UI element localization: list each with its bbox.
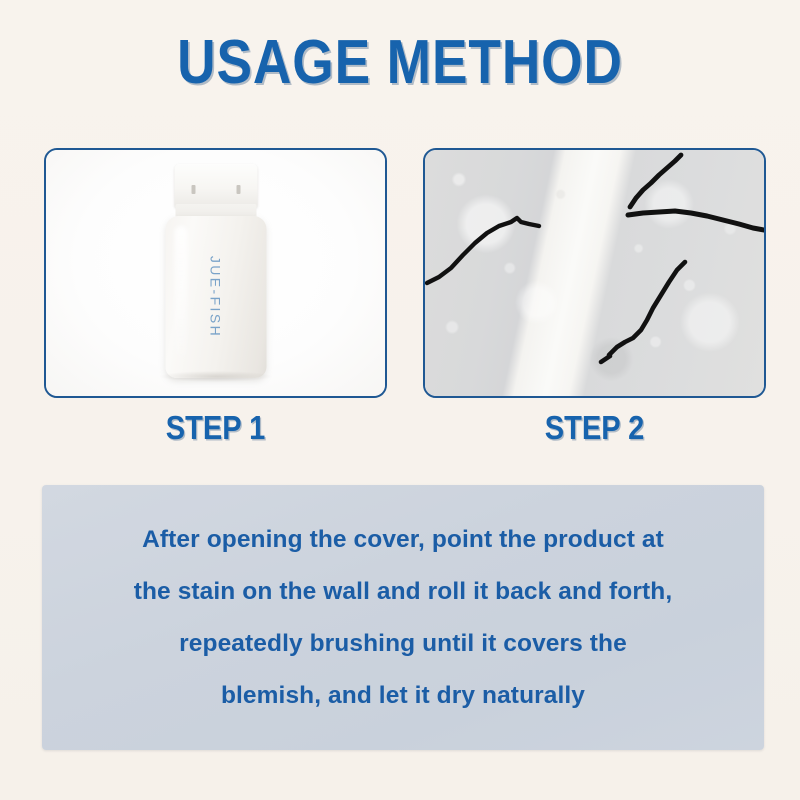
description-line-2: the stain on the wall and roll it back a… [134, 566, 673, 618]
step-labels: STEP 1 STEP 2 [44, 408, 766, 452]
description-line-1: After opening the cover, point the produ… [142, 514, 664, 566]
lid-hinge-left-icon [191, 185, 195, 194]
page-title: USAGE METHOD [56, 32, 744, 94]
step-2-label: STEP 2 [444, 408, 746, 448]
step-panels: JUE-FISH [44, 148, 766, 398]
wall-cracks [425, 150, 764, 396]
usage-method-page: USAGE METHOD JUE-FISH [0, 0, 800, 800]
step-1-label: STEP 1 [65, 408, 367, 448]
bottle-shadow [160, 371, 272, 382]
product-bottle: JUE-FISH [156, 164, 276, 388]
step-2-image-panel [423, 148, 766, 398]
step-1-image-panel: JUE-FISH [44, 148, 387, 398]
product-bottle-photo: JUE-FISH [46, 150, 385, 396]
bottle-lid [174, 164, 257, 208]
brand-label: JUE-FISH [208, 256, 224, 338]
cracked-wall-photo [425, 150, 764, 396]
description-line-3: repeatedly brushing until it covers the [179, 618, 627, 670]
lid-hinge-right-icon [236, 185, 240, 194]
bottle-body: JUE-FISH [165, 216, 266, 378]
description-panel: After opening the cover, point the produ… [42, 485, 764, 750]
description-line-4: blemish, and let it dry naturally [221, 670, 585, 722]
